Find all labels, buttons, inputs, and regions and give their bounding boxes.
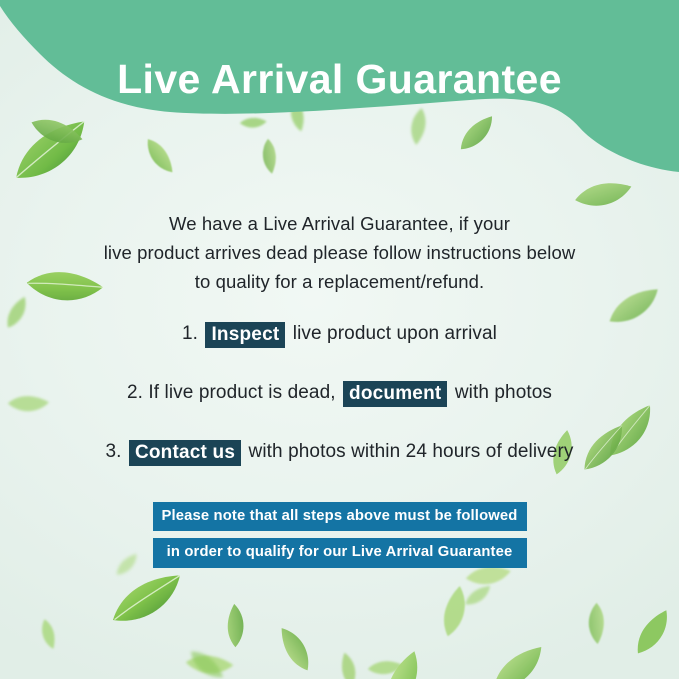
live-arrival-guarantee-poster: Live Arrival Guarantee We have a Live Ar… [0, 0, 679, 679]
step-highlight-document[interactable]: document [343, 381, 447, 407]
leaf-icon [25, 617, 71, 651]
step-highlight-contact-us[interactable]: Contact us [129, 440, 241, 466]
intro-line-1: We have a Live Arrival Guarantee, if you… [50, 209, 629, 238]
steps-list: 1. Inspect live product upon arrival 2. … [30, 321, 649, 465]
step-text: with photos [455, 382, 552, 403]
step-number: 3. [106, 441, 122, 462]
leaf-icon [263, 620, 328, 677]
intro-line-3: to quality for a replacement/refund. [50, 267, 629, 296]
intro-line-2: live product arrives dead please follow … [50, 238, 629, 267]
leaf-icon [622, 604, 679, 662]
leaf-icon [426, 581, 484, 643]
leaf-icon [183, 640, 229, 679]
leaf-icon [481, 638, 555, 679]
note-bars: Please note that all steps above must be… [0, 502, 679, 568]
step-item-2: 2. If live product is dead, document wit… [30, 380, 649, 406]
leaf-icon [365, 651, 405, 679]
note-bar-line-1: Please note that all steps above must be… [153, 502, 527, 531]
leaf-icon [563, 595, 629, 652]
step-highlight-inspect[interactable]: Inspect [205, 322, 285, 348]
step-number: 1. [182, 323, 198, 344]
leaf-icon [461, 581, 496, 610]
note-bar-line-2: in order to qualify for our Live Arrival… [153, 538, 527, 567]
step-item-1: 1. Inspect live product upon arrival [30, 321, 649, 347]
leaf-icon [200, 596, 273, 657]
page-title: Live Arrival Guarantee [0, 57, 679, 102]
leaf-icon [181, 640, 237, 679]
leaf-icon [326, 650, 371, 679]
step-item-3: 3. Contact us with photos within 24 hour… [30, 439, 649, 465]
intro-paragraph: We have a Live Arrival Guarantee, if you… [50, 209, 629, 296]
leaf-icon [104, 567, 191, 632]
leaf-icon [366, 645, 441, 679]
step-number: 2. [127, 382, 143, 403]
step-text: with photos within 24 hours of delivery [249, 441, 574, 462]
step-text-pre: If live product is dead, [148, 382, 335, 403]
step-text: live product upon arrival [293, 323, 497, 344]
